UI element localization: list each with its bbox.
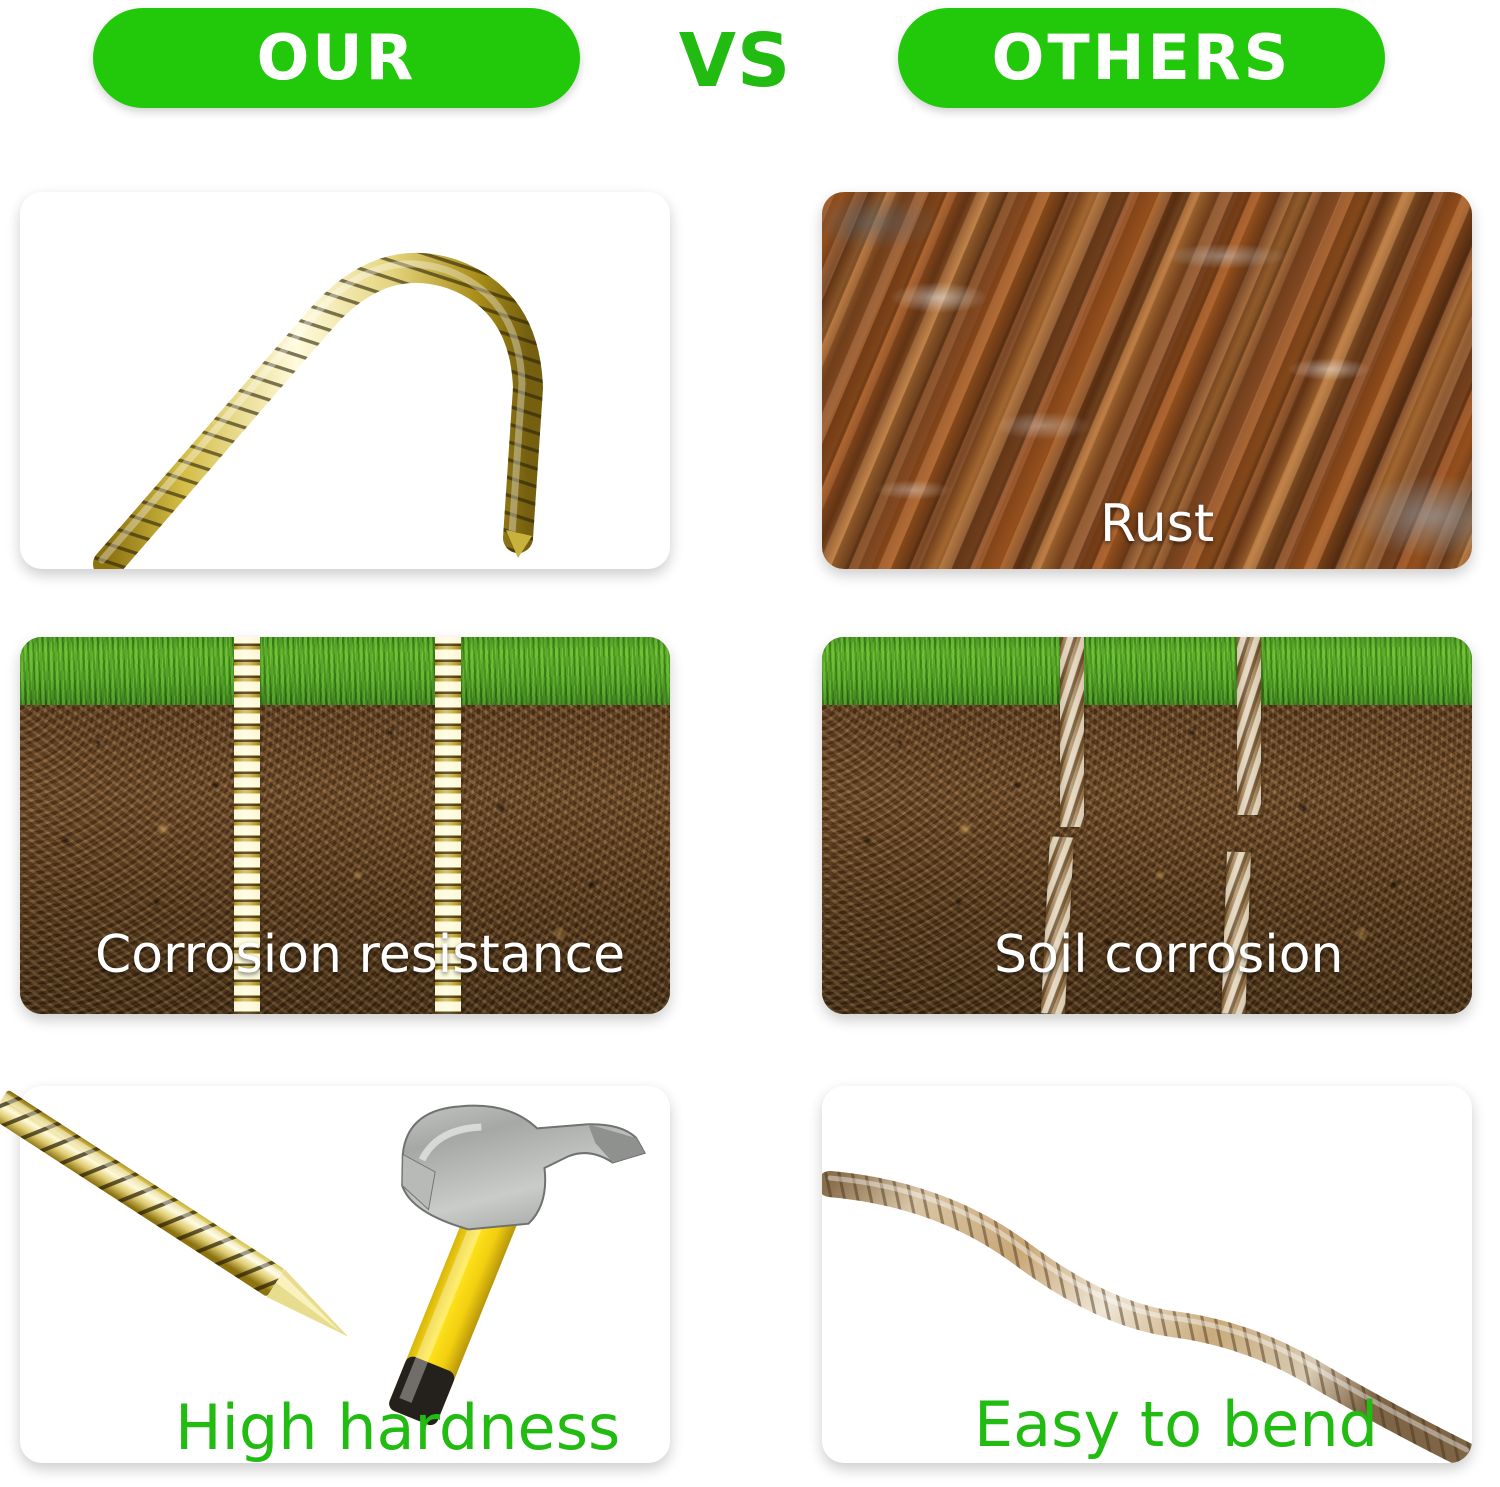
our-pill-label: OUR	[257, 27, 417, 89]
card-label-corrosion-resistance: Corrosion resistance	[95, 925, 625, 985]
card-easy-to-bend: Easy to bend	[822, 1086, 1472, 1463]
card-soil-corrosion: Soil corrosion	[822, 637, 1472, 1014]
vs-label: VS	[660, 16, 810, 106]
card-corrosion-resistance: Corrosion resistance	[20, 637, 670, 1014]
others-pill: OTHERS	[898, 8, 1385, 108]
card-label-high-hardness: High hardness	[175, 1391, 620, 1464]
vs-text: VS	[679, 18, 792, 104]
others-pill-label: OTHERS	[992, 27, 1292, 89]
grass-layer	[20, 637, 670, 705]
card-label-soil-corrosion: Soil corrosion	[994, 925, 1343, 985]
card-high-hardness: High hardness	[20, 1086, 670, 1463]
card-label-easy-to-bend: Easy to bend	[974, 1388, 1378, 1461]
comparison-infographic: OUR VS OTHERS	[0, 0, 1500, 1487]
card-antirust: Antirust	[20, 192, 670, 569]
rusty-stake-right-upper	[1237, 637, 1261, 815]
grass-layer	[822, 637, 1472, 705]
card-rust: Rust	[822, 192, 1472, 569]
card-label-rust: Rust	[1100, 494, 1214, 554]
header: OUR VS OTHERS	[0, 0, 1500, 130]
rusty-stake-left-upper	[1060, 637, 1084, 827]
gold-hook-stake-icon	[20, 192, 670, 569]
our-pill: OUR	[93, 8, 580, 108]
